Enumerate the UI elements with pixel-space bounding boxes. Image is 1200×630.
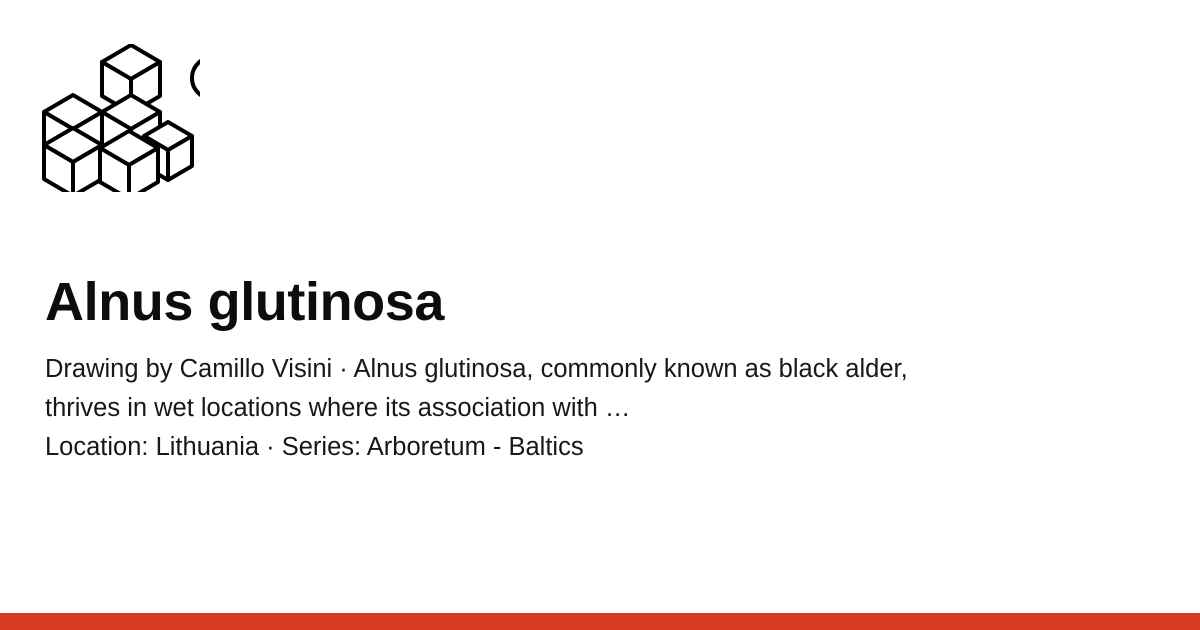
isometric-cubes-logo-graphic <box>40 44 200 192</box>
footer-accent-bar <box>0 613 1200 630</box>
preview-content: Alnus glutinosa Drawing by Camillo Visin… <box>45 272 1135 467</box>
meta-location-series: Location: Lithuania · Series: Arboretum … <box>45 428 1135 467</box>
description-line-2: thrives in wet locations where its assoc… <box>45 389 1135 428</box>
share-preview-card: Alnus glutinosa Drawing by Camillo Visin… <box>0 0 1200 630</box>
page-title: Alnus glutinosa <box>45 272 1135 332</box>
description-text: Drawing by Camillo Visini · Alnus glutin… <box>45 350 1135 428</box>
description-line-1: Drawing by Camillo Visini · Alnus glutin… <box>45 350 1135 389</box>
cube-bottom-left <box>44 128 102 192</box>
isometric-cubes-logo <box>40 44 200 192</box>
circle-accent-icon <box>192 57 200 99</box>
